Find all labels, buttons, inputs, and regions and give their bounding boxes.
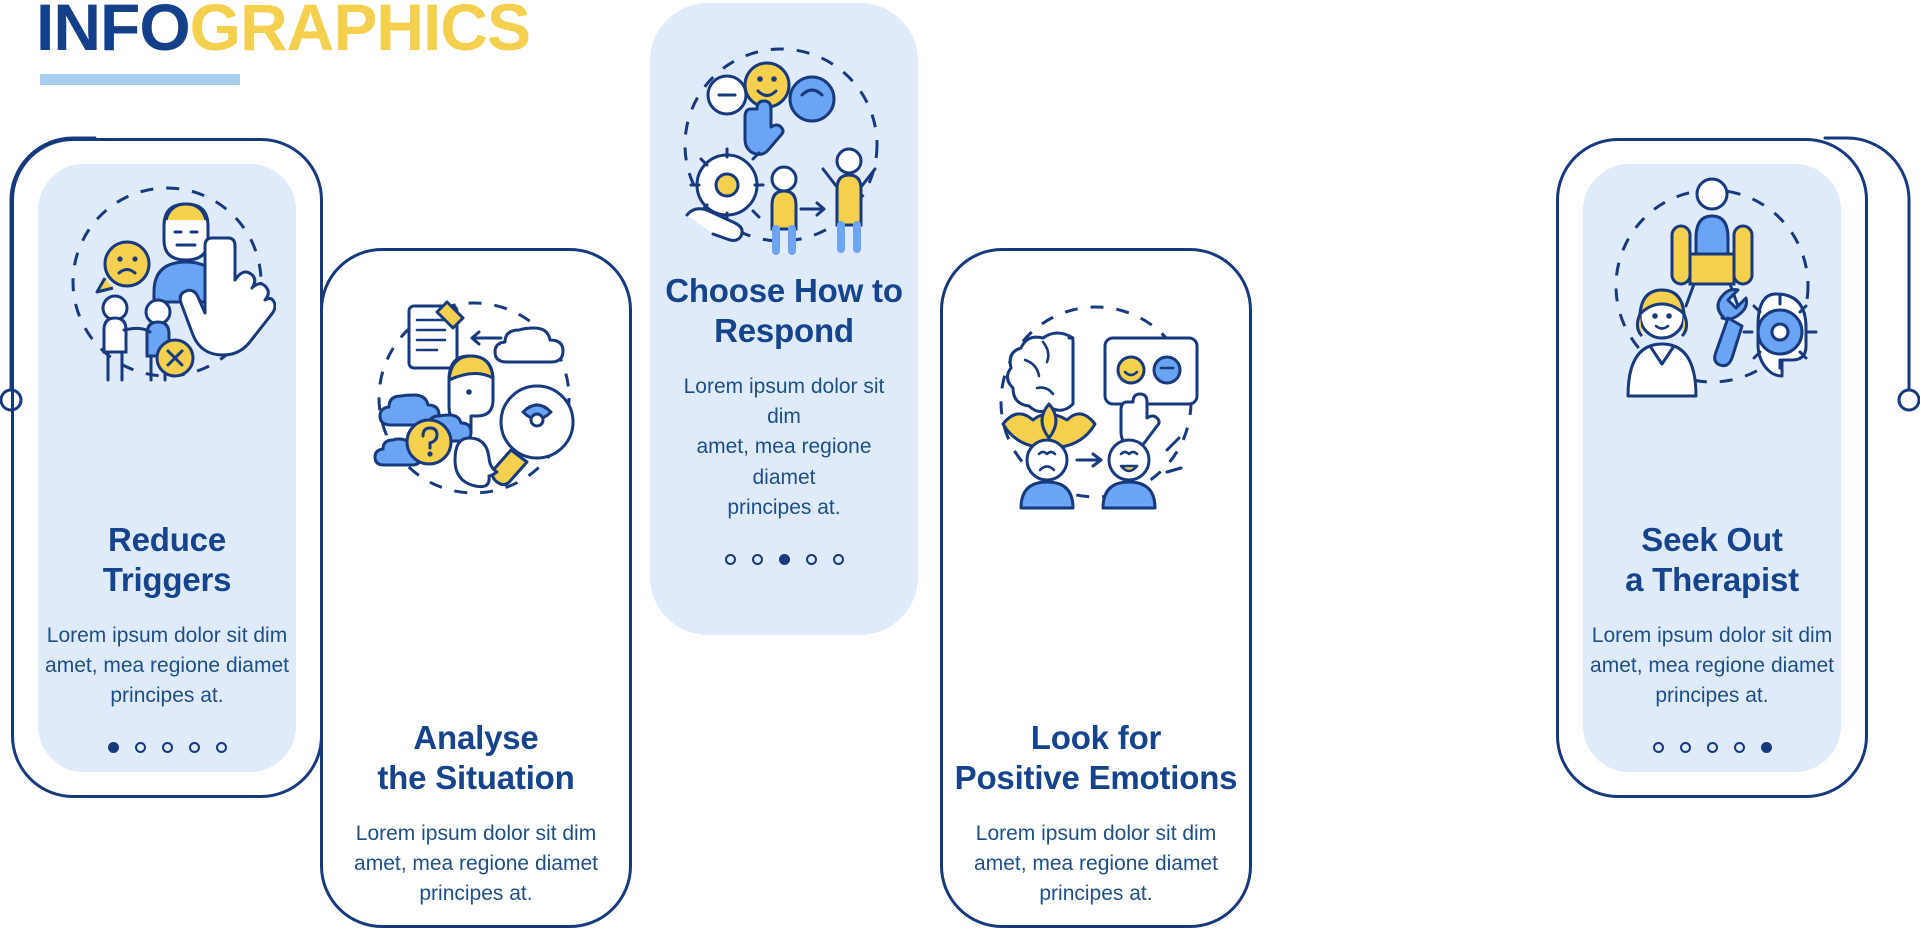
logo-text-primary: INFO bbox=[36, 0, 190, 64]
dot-1[interactable] bbox=[725, 554, 736, 565]
step-card-5-description: Lorem ipsum dolor sit dim amet, mea regi… bbox=[1570, 621, 1854, 712]
step-card-5-dots[interactable] bbox=[1570, 742, 1854, 753]
step-card-2[interactable]: Analyse the Situation Lorem ipsum dolor … bbox=[320, 248, 632, 928]
dot-2[interactable] bbox=[1680, 742, 1691, 753]
step-card-1-description: Lorem ipsum dolor sit dim amet, mea regi… bbox=[25, 621, 309, 712]
dot-3[interactable] bbox=[1707, 742, 1718, 753]
step-card-4-description: Lorem ipsum dolor sit dim amet, mea regi… bbox=[954, 819, 1238, 910]
step-card-2-description: Lorem ipsum dolor sit dim amet, mea regi… bbox=[334, 819, 618, 910]
step-card-5[interactable]: Seek Out a Therapist Lorem ipsum dolor s… bbox=[1556, 138, 1868, 798]
dot-3[interactable] bbox=[779, 554, 790, 565]
dot-1[interactable] bbox=[108, 742, 119, 753]
step-card-3-title: Choose How to Respond bbox=[664, 271, 904, 352]
dot-5[interactable] bbox=[833, 554, 844, 565]
logo-text-secondary: GRAPHICS bbox=[190, 0, 530, 64]
dot-4[interactable] bbox=[189, 742, 200, 753]
dot-2[interactable] bbox=[752, 554, 763, 565]
step-card-4[interactable]: Look for Positive Emotions Lorem ipsum d… bbox=[940, 248, 1252, 928]
dot-4[interactable] bbox=[806, 554, 817, 565]
step-card-3[interactable]: Choose How to Respond Lorem ipsum dolor … bbox=[650, 3, 918, 635]
page-title: INFOGRAPHICS bbox=[36, 0, 530, 85]
dot-3[interactable] bbox=[162, 742, 173, 753]
positive-emotions-icon bbox=[940, 294, 1252, 512]
step-card-5-content: Seek Out a Therapist Lorem ipsum dolor s… bbox=[1556, 520, 1868, 753]
step-card-3-content: Choose How to Respond Lorem ipsum dolor … bbox=[650, 271, 918, 565]
dot-1[interactable] bbox=[1653, 742, 1664, 753]
step-card-1-dots[interactable] bbox=[25, 742, 309, 753]
logo-text: INFOGRAPHICS bbox=[36, 0, 530, 60]
step-card-1-content: Reduce Triggers Lorem ipsum dolor sit di… bbox=[11, 520, 323, 753]
step-card-3-description: Lorem ipsum dolor sit dim amet, mea regi… bbox=[664, 372, 904, 524]
step-card-2-content: Analyse the Situation Lorem ipsum dolor … bbox=[320, 718, 632, 937]
analyse-situation-icon bbox=[320, 294, 632, 509]
step-card-5-title: Seek Out a Therapist bbox=[1570, 520, 1854, 601]
step-card-1[interactable]: Reduce Triggers Lorem ipsum dolor sit di… bbox=[11, 138, 323, 798]
step-card-1-title: Reduce Triggers bbox=[25, 520, 309, 601]
infographic-canvas: INFOGRAPHICS bbox=[0, 0, 1920, 937]
choose-respond-icon bbox=[650, 33, 918, 263]
title-underline-rule bbox=[40, 74, 240, 85]
step-card-4-title: Look for Positive Emotions bbox=[954, 718, 1238, 799]
rail-end-node bbox=[1899, 390, 1919, 410]
reduce-triggers-icon bbox=[11, 180, 323, 395]
step-card-4-content: Look for Positive Emotions Lorem ipsum d… bbox=[940, 718, 1252, 937]
step-card-2-title: Analyse the Situation bbox=[334, 718, 618, 799]
dot-5[interactable] bbox=[216, 742, 227, 753]
dot-4[interactable] bbox=[1734, 742, 1745, 753]
dot-2[interactable] bbox=[135, 742, 146, 753]
step-card-3-dots[interactable] bbox=[664, 554, 904, 565]
seek-therapist-icon bbox=[1556, 164, 1868, 424]
dot-5[interactable] bbox=[1761, 742, 1772, 753]
